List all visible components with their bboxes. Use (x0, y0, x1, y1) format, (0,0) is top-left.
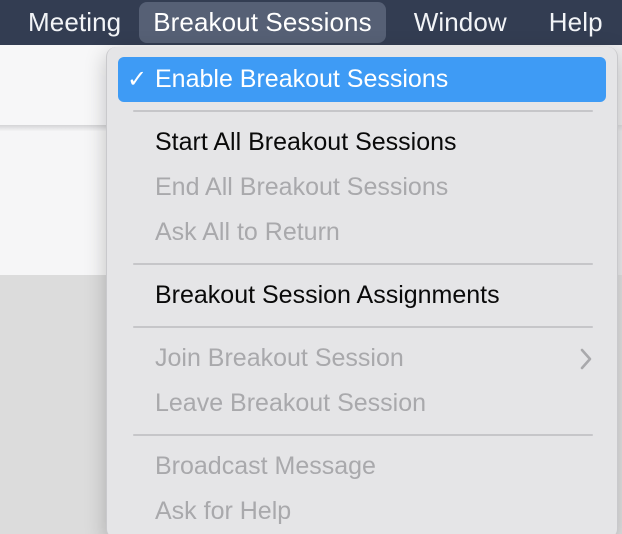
menu-item-label: Enable Breakout Sessions (155, 65, 594, 94)
menu-item-end-all-breakout-sessions: End All Breakout Sessions (118, 165, 606, 210)
menu-separator (133, 434, 593, 436)
menu-separator (133, 110, 593, 112)
menu-item-breakout-session-assignments[interactable]: Breakout Session Assignments (118, 273, 606, 318)
menu-separator (133, 263, 593, 265)
menu-bar: MeetingBreakout SessionsWindowHelp (0, 0, 622, 45)
menu-item-join-breakout-session: Join Breakout Session (118, 336, 606, 381)
menu-item-label: Ask All to Return (155, 218, 594, 247)
menu-item-label: Ask for Help (155, 497, 594, 526)
menu-item-label: Join Breakout Session (155, 344, 578, 373)
menu-item-label: Leave Breakout Session (155, 389, 594, 418)
menu-item-ask-for-help: Ask for Help (118, 489, 606, 534)
checkmark-icon: ✓ (127, 68, 155, 92)
menu-item-leave-breakout-session: Leave Breakout Session (118, 381, 606, 426)
menu-item-label: End All Breakout Sessions (155, 173, 594, 202)
menu-separator (133, 326, 593, 328)
menubar-item-help[interactable]: Help (535, 2, 617, 43)
menubar-item-meeting[interactable]: Meeting (14, 2, 135, 43)
menu-item-broadcast-message: Broadcast Message (118, 444, 606, 489)
menubar-item-window[interactable]: Window (400, 2, 521, 43)
menu-item-label: Start All Breakout Sessions (155, 128, 594, 157)
menu-item-ask-all-to-return: Ask All to Return (118, 210, 606, 255)
menu-item-start-all-breakout-sessions[interactable]: Start All Breakout Sessions (118, 120, 606, 165)
chevron-right-icon (578, 346, 594, 372)
menu-item-label: Broadcast Message (155, 452, 594, 481)
breakout-sessions-dropdown-menu: ✓Enable Breakout SessionsStart All Break… (106, 47, 618, 534)
menu-item-enable-breakout-sessions[interactable]: ✓Enable Breakout Sessions (118, 57, 606, 102)
screen: MeetingBreakout SessionsWindowHelp ✓Enab… (0, 0, 622, 534)
menu-item-label: Breakout Session Assignments (155, 281, 594, 310)
menubar-item-breakout-sessions[interactable]: Breakout Sessions (139, 2, 386, 43)
